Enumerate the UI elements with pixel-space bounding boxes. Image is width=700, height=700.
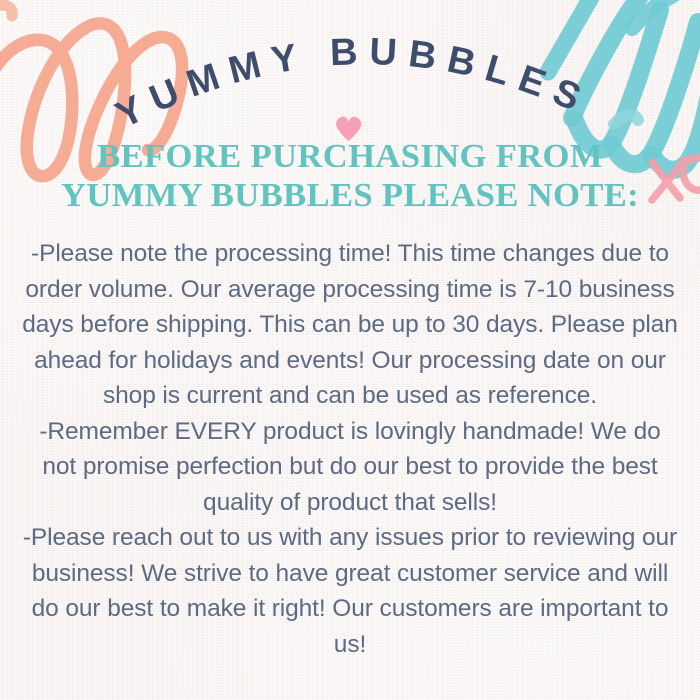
- brand-arch-title: YUMMY BUBBLES: [0, 2, 700, 152]
- body-paragraph-handmade: -Remember EVERY product is lovingly hand…: [20, 414, 680, 521]
- brand-arch-text: YUMMY BUBBLES: [109, 31, 596, 137]
- notice-heading-line-1: BEFORE PURCHASING FROM: [0, 138, 700, 177]
- body-paragraph-processing-time: -Please note the processing time! This t…: [20, 236, 680, 414]
- body-copy: -Please note the processing time! This t…: [20, 236, 680, 662]
- body-paragraph-contact-us: -Please reach out to us with any issues …: [20, 520, 680, 662]
- notice-heading: BEFORE PURCHASING FROM YUMMY BUBBLES PLE…: [0, 138, 700, 216]
- notice-heading-line-2: YUMMY BUBBLES PLEASE NOTE:: [0, 177, 700, 216]
- text-layer: YUMMY BUBBLES BEFORE PURCHASING FROM YUM…: [0, 0, 700, 700]
- poster-canvas: YUMMY BUBBLES BEFORE PURCHASING FROM YUM…: [0, 0, 700, 700]
